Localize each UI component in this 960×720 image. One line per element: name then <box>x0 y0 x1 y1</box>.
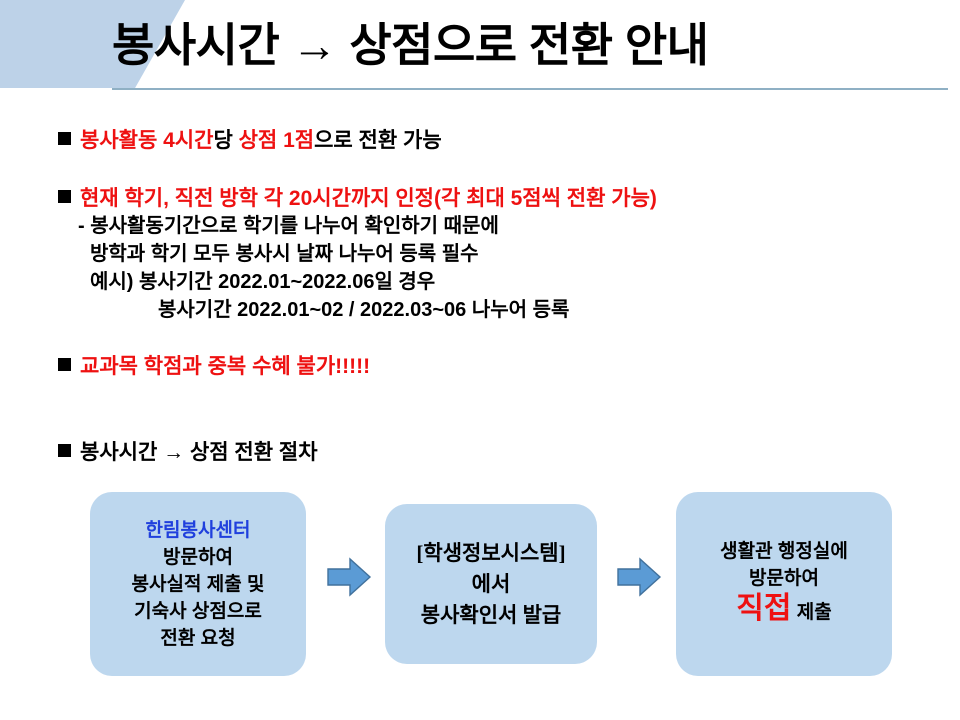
page-title: 봉사시간 → 상점으로 전환 안내 <box>112 8 948 82</box>
flow-step-3-line-2: 방문하여 <box>749 565 819 592</box>
slide-header: 봉사시간 → 상점으로 전환 안내 <box>0 0 960 92</box>
flow-step-2[interactable]: [학생정보시스템] 에서 봉사확인서 발급 <box>385 504 597 664</box>
sub-line-2: 방학과 학기 모두 봉사시 날짜 나누어 등록 필수 <box>90 240 479 268</box>
bullet-1-seg-3: 상점 1점 <box>239 129 314 152</box>
flow-step-3-emphasis: 직접 <box>736 592 791 625</box>
bullet-item-3: 교과목 학점과 중복 수혜 불가!!!!! <box>58 352 370 382</box>
flow-step-1-line-3: 봉사실적 제출 및 <box>132 571 265 598</box>
right-arrow-icon <box>326 556 372 598</box>
bullet-3-text: 교과목 학점과 중복 수혜 불가!!!!! <box>80 355 370 378</box>
right-arrow-icon <box>616 556 662 598</box>
flow-step-3-line-3: 직접 제출 <box>736 592 831 630</box>
header-divider <box>112 88 948 90</box>
flow-step-3[interactable]: 생활관 행정실에 방문하여 직접 제출 <box>676 492 892 676</box>
bullet-1-seg-4: 으로 전환 가능 <box>314 129 442 152</box>
flow-step-1-line-4: 기숙사 상점으로 <box>134 598 262 625</box>
flow-step-2-line-3: 봉사확인서 발급 <box>421 600 562 631</box>
flow-step-1[interactable]: 한림봉사센터 방문하여 봉사실적 제출 및 기숙사 상점으로 전환 요청 <box>90 492 306 676</box>
flow-step-1-line-2: 방문하여 <box>163 544 233 571</box>
sub-line-4: 봉사기간 2022.01~02 / 2022.03~06 나누어 등록 <box>158 296 569 324</box>
square-bullet-icon <box>58 358 71 371</box>
bullet-2-text: 현재 학기, 직전 방학 각 20시간까지 인정(각 최대 5점씩 전환 가능) <box>80 187 657 210</box>
sub-line-3: 예시) 봉사기간 2022.01~2022.06일 경우 <box>90 268 435 296</box>
flow-step-2-line-1: [학생정보시스템] <box>416 538 565 569</box>
bullet-item-4: 봉사시간 → 상점 전환 절차 <box>58 438 318 468</box>
flow-arrow-1 <box>326 556 372 598</box>
bullet-1-seg-2: 당 <box>213 129 238 152</box>
flow-step-1-line-1: 한림봉사센터 <box>146 517 251 544</box>
process-flow: 한림봉사센터 방문하여 봉사실적 제출 및 기숙사 상점으로 전환 요청 [학생… <box>0 488 960 688</box>
bullet-1-seg-1: 봉사활동 4시간 <box>80 129 213 152</box>
square-bullet-icon <box>58 190 71 203</box>
square-bullet-icon <box>58 132 71 145</box>
square-bullet-icon <box>58 444 71 457</box>
bullet-item-1: 봉사활동 4시간당 상점 1점으로 전환 가능 <box>58 126 442 156</box>
slide-body: 봉사활동 4시간당 상점 1점으로 전환 가능 현재 학기, 직전 방학 각 2… <box>0 100 960 470</box>
bullet-item-2: 현재 학기, 직전 방학 각 20시간까지 인정(각 최대 5점씩 전환 가능) <box>58 184 657 214</box>
flow-step-2-line-2: 에서 <box>472 569 511 600</box>
flow-step-3-line-1: 생활관 행정실에 <box>720 538 848 565</box>
sub-line-1: - 봉사활동기간으로 학기를 나누어 확인하기 때문에 <box>78 212 499 240</box>
flow-step-3-tail: 제출 <box>791 602 831 623</box>
flow-arrow-2 <box>616 556 662 598</box>
bullet-4-text: 봉사시간 → 상점 전환 절차 <box>80 441 318 464</box>
flow-step-1-line-5: 전환 요청 <box>160 625 235 652</box>
